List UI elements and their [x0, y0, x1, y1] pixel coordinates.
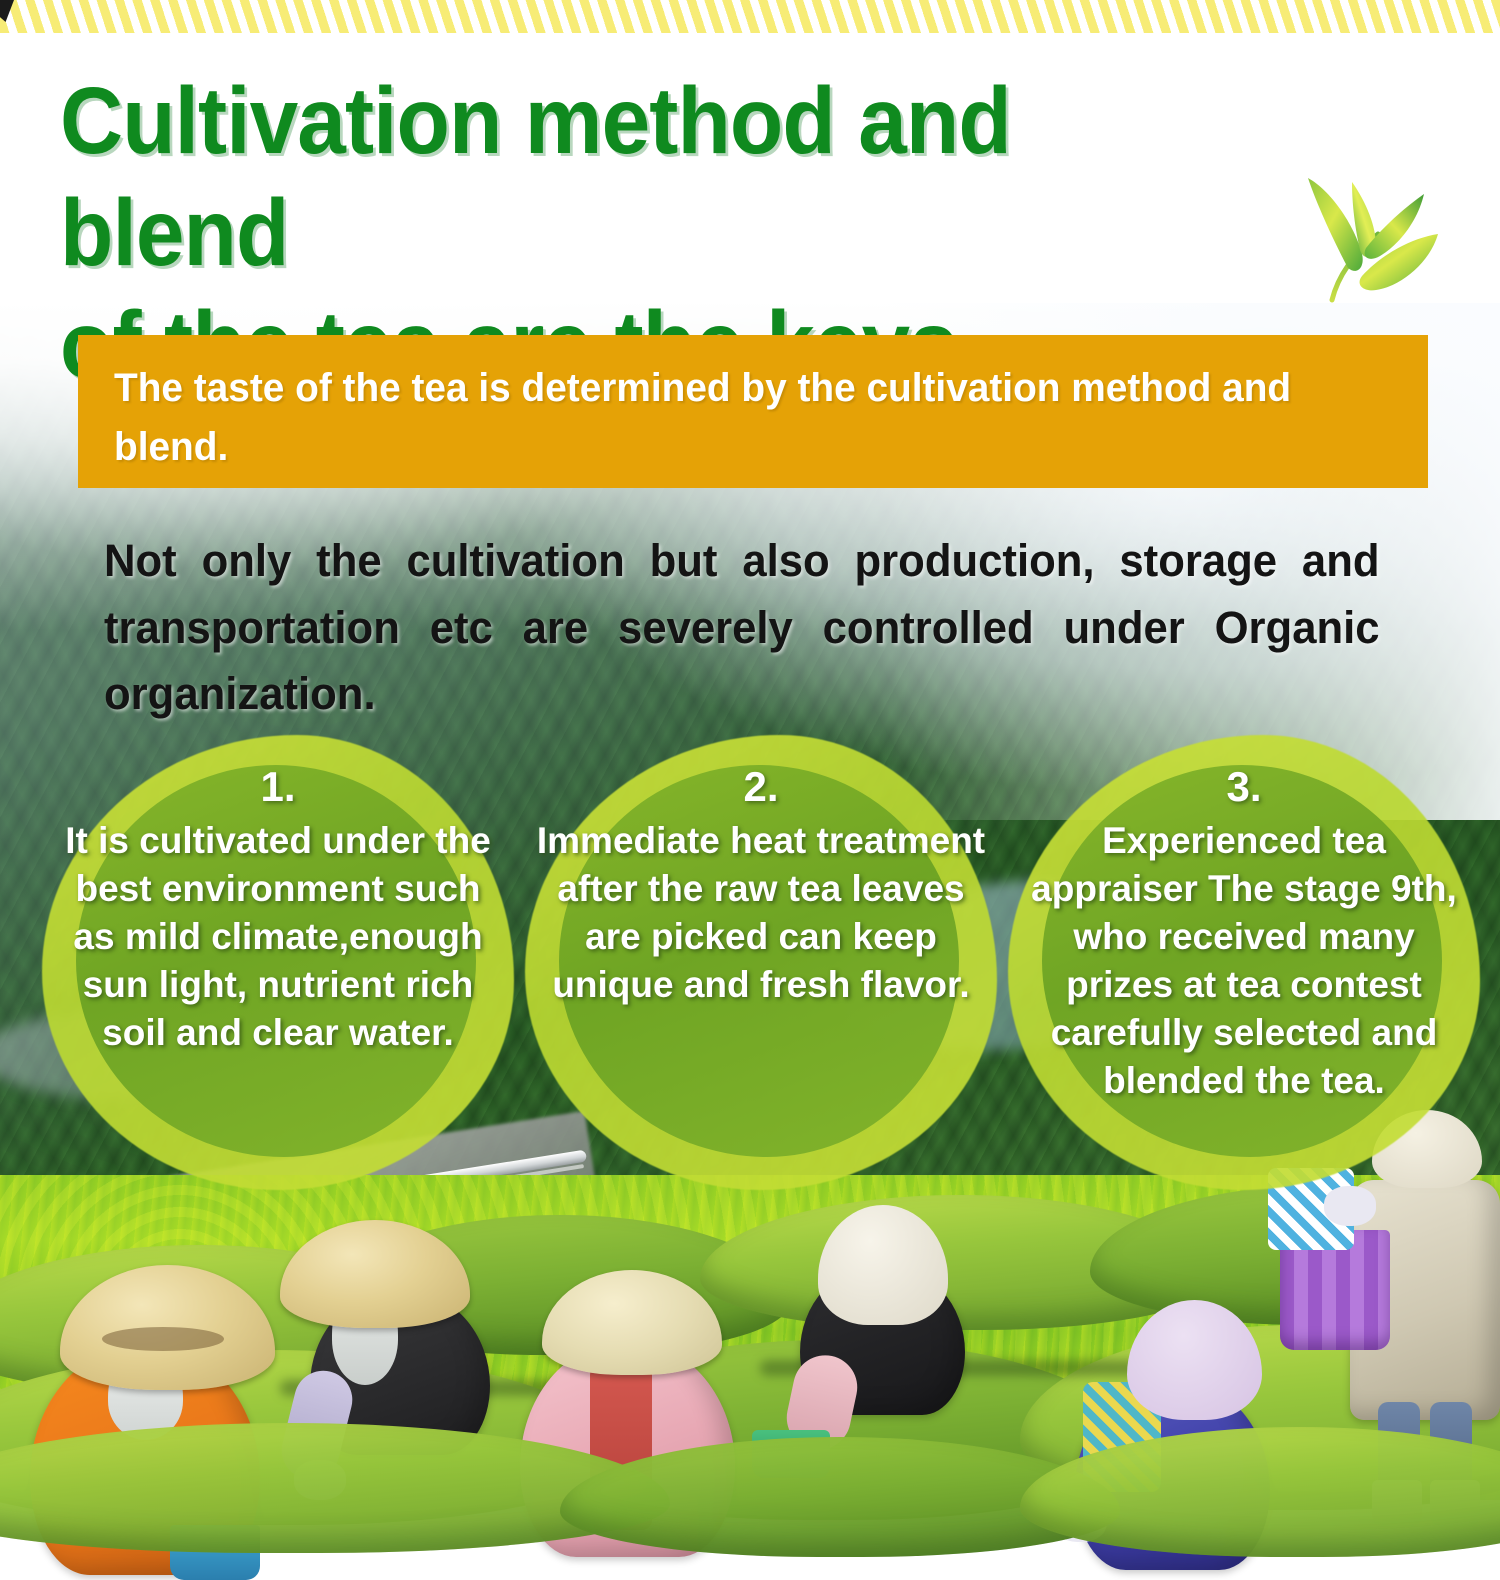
point-number: 3.	[1008, 763, 1480, 811]
page-title-line1: Cultivation method and blend	[60, 65, 1192, 289]
tea-leaf-icon	[1282, 172, 1447, 307]
decorative-stripe-band	[0, 0, 1500, 33]
tea-field-photo	[0, 1175, 1500, 1500]
page-header: Cultivation method and blend of the tea …	[0, 33, 1500, 303]
points-row: 1. It is cultivated under the best envir…	[0, 735, 1500, 1205]
point-blob-3: 3. Experienced tea appraiser The stage 9…	[1008, 735, 1480, 1190]
point-text: Experienced tea appraiser The stage 9th,…	[1018, 817, 1470, 1106]
hat-band	[102, 1327, 224, 1351]
point-number: 2.	[525, 763, 997, 811]
callout-box: The taste of the tea is determined by th…	[78, 335, 1428, 488]
point-number: 1.	[42, 763, 514, 811]
point-text: Immediate heat treatment after the raw t…	[535, 817, 987, 1009]
point-text: It is cultivated under the best environm…	[52, 817, 504, 1057]
callout-text: The taste of the tea is determined by th…	[114, 359, 1358, 477]
body-paragraph: Not only the cultivation but also produc…	[104, 528, 1380, 728]
point-blob-2: 2. Immediate heat treatment after the ra…	[525, 735, 997, 1190]
point-blob-1: 1. It is cultivated under the best envir…	[42, 735, 514, 1190]
